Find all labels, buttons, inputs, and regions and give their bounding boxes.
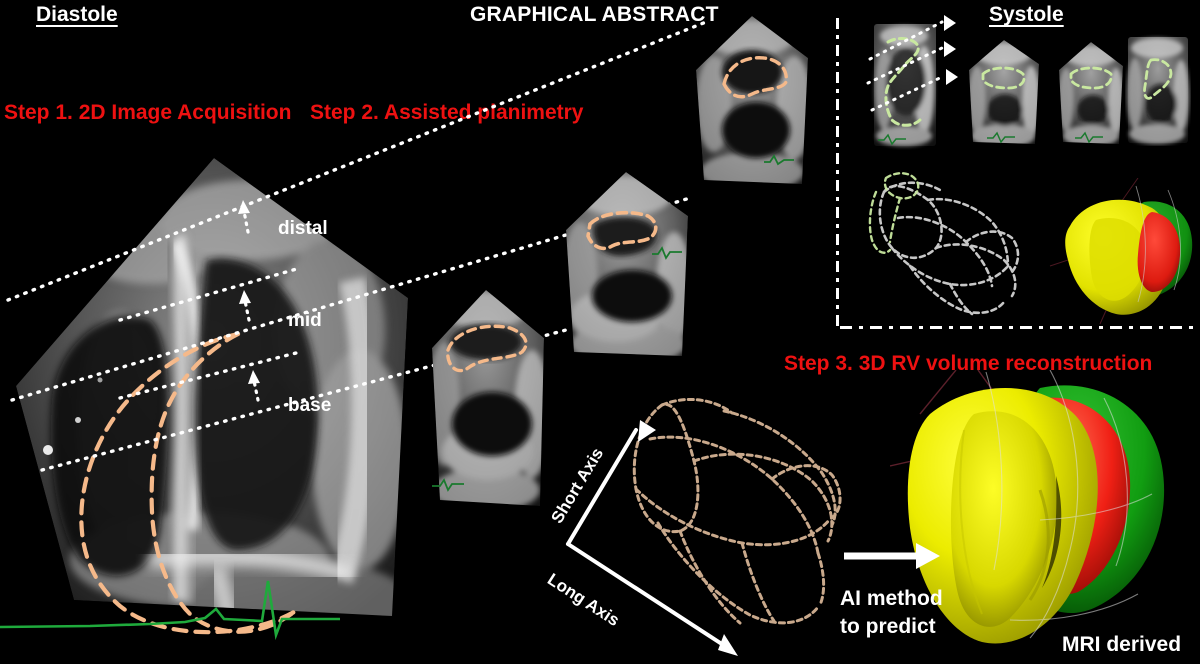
volume-3d-systole <box>1040 178 1200 328</box>
volume-3d-comparison <box>890 370 1200 660</box>
mri-derived-label: MRI derived <box>1062 632 1181 658</box>
arrow-ai-predict <box>840 540 950 576</box>
mesh-systole-wireframe <box>862 162 1042 322</box>
graphical-abstract-canvas: Diastole GRAPHICAL ABSTRACT Systole Step… <box>0 0 1200 664</box>
ai-method-label-line2: to predict <box>840 614 936 640</box>
axis-arrows <box>540 400 800 664</box>
ai-method-label-line1: AI method <box>840 586 943 612</box>
